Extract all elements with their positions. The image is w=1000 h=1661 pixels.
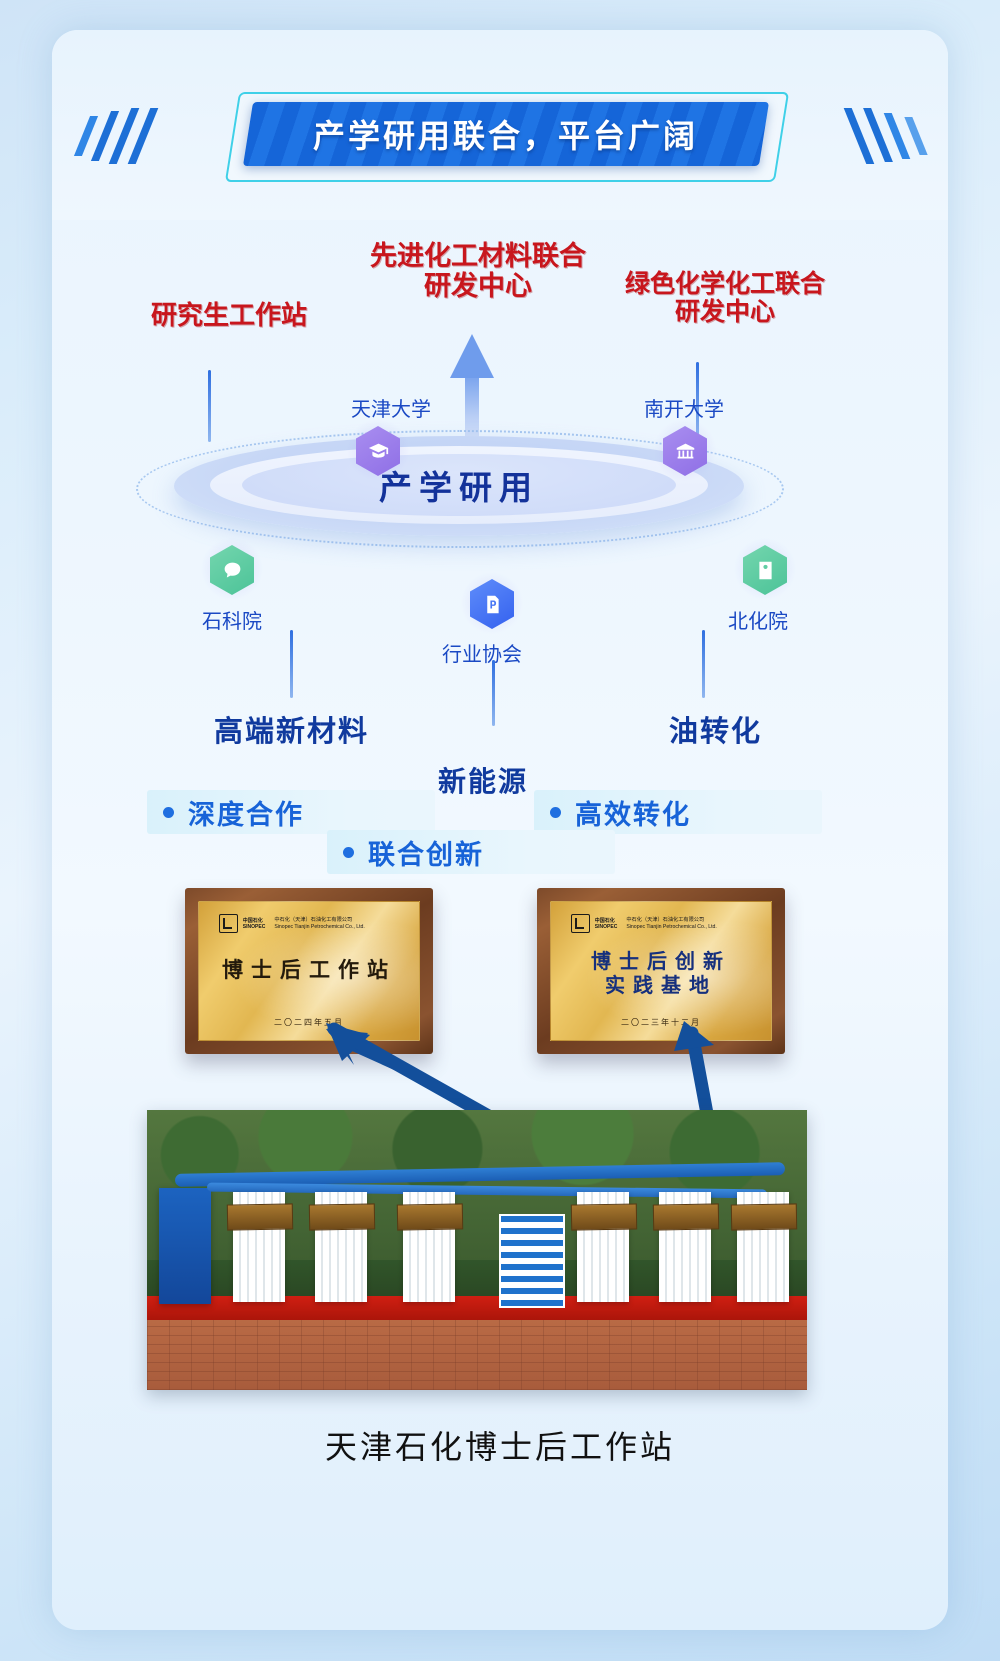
node-label-shikeyuan: 石科院 <box>202 605 262 634</box>
sinopec-logo: 中国石化 SINOPEC 中石化（天津）石油化工有限公司 Sinopec Tia… <box>571 914 717 933</box>
photo-column-plate <box>571 1203 637 1230</box>
sinopec-brand: 中国石化 SINOPEC <box>243 918 266 931</box>
plaque-company: 中石化（天津）石油化工有限公司 Sinopec Tianjin Petroche… <box>274 917 365 932</box>
left-slash-decoration <box>82 108 147 164</box>
brush-heading-new-energy: 新能源 <box>438 760 528 800</box>
photo-column-plate <box>397 1203 463 1230</box>
photo-column-plate <box>653 1203 719 1230</box>
banner-title: 产学研用联合，平台广阔 <box>313 111 698 157</box>
connector-new-energy <box>492 660 495 726</box>
photo-column <box>659 1192 711 1302</box>
graduation-cap-icon <box>368 441 389 462</box>
sinopec-brand-cn: 中国石化 <box>243 918 263 924</box>
arrow-head <box>450 334 494 378</box>
plaque-title: 博士后工作站 <box>199 957 419 983</box>
plaque-title: 博士后创新 实践基地 <box>551 949 771 998</box>
right-slash-decoration <box>855 108 920 164</box>
chip-joint-innovation[interactable]: 联合创新 <box>327 830 615 874</box>
photo-column <box>737 1192 789 1302</box>
chip-label: 高效转化 <box>575 793 691 832</box>
site-photo <box>147 1110 807 1390</box>
photo-column <box>315 1192 367 1302</box>
node-label-beihuayuan: 北化院 <box>728 605 788 634</box>
arrow-to-right-plaque <box>652 1015 772 1125</box>
connector-graduate-station <box>208 370 211 442</box>
chip-label: 联合创新 <box>368 833 484 872</box>
chip-deep-cooperation[interactable]: 深度合作 <box>147 790 435 834</box>
plaque-company-en: Sinopec Tianjin Petrochemical Co., Ltd. <box>274 924 365 930</box>
photo-column-plate <box>731 1203 797 1230</box>
plaque-company: 中石化（天津）石油化工有限公司 Sinopec Tianjin Petroche… <box>626 917 717 932</box>
photo-center-panel <box>499 1214 565 1308</box>
sinopec-brand-en: SINOPEC <box>595 924 618 930</box>
red-heading-advanced-materials-center: 先进化工材料联合 研发中心 <box>348 242 608 302</box>
id-card-icon <box>755 560 776 581</box>
plaque-company-en: Sinopec Tianjin Petrochemical Co., Ltd. <box>626 924 717 930</box>
chip-label: 深度合作 <box>188 793 304 832</box>
sinopec-logo: 中国石化 SINOPEC 中石化（天津）石油化工有限公司 Sinopec Tia… <box>219 914 365 933</box>
photo-blue-board <box>159 1188 211 1304</box>
photo-brick-ground <box>147 1320 807 1390</box>
photo-caption: 天津石化博士后工作站 <box>52 1422 948 1468</box>
sinopec-brand-en: SINOPEC <box>243 924 266 930</box>
poster-canvas: 产学研用联合，平台广阔 研究生工作站 先进化工材料联合 研发中心 绿色化学化工联… <box>52 30 948 1630</box>
chip-efficient-conversion[interactable]: 高效转化 <box>534 790 822 834</box>
core-label: 产学研用 <box>242 454 676 516</box>
university-building-icon <box>675 441 696 462</box>
brush-heading-oil-conversion: 油转化 <box>669 708 762 750</box>
document-p-icon <box>482 594 503 615</box>
red-heading-graduate-station: 研究生工作站 <box>114 302 344 331</box>
bullet-dot-icon <box>163 807 174 818</box>
plaque-company-cn: 中石化（天津）石油化工有限公司 <box>274 917 352 923</box>
node-label-tianjin-university: 天津大学 <box>351 393 431 422</box>
banner-plate: 产学研用联合，平台广阔 <box>243 102 769 166</box>
sinopec-mark-icon <box>219 914 238 933</box>
sinopec-mark-icon <box>571 914 590 933</box>
node-label-industry-association: 行业协会 <box>442 638 522 667</box>
sinopec-brand-cn: 中国石化 <box>595 918 615 924</box>
photo-column-plate <box>227 1203 293 1230</box>
bullet-dot-icon <box>343 847 354 858</box>
photo-column <box>577 1192 629 1302</box>
title-banner: 产学研用联合，平台广阔 <box>52 90 948 180</box>
photo-column-plate <box>309 1203 375 1230</box>
bullet-dot-icon <box>550 807 561 818</box>
plaque-company-cn: 中石化（天津）石油化工有限公司 <box>626 917 704 923</box>
red-heading-green-chemistry-center: 绿色化学化工联合 研发中心 <box>600 270 850 326</box>
sinopec-brand: 中国石化 SINOPEC <box>595 918 618 931</box>
arrow-to-left-plaque <box>282 1015 502 1125</box>
photo-column <box>233 1192 285 1302</box>
node-label-nankai-university: 南开大学 <box>644 393 724 422</box>
connector-oil-conversion <box>702 630 705 698</box>
chat-bubble-icon <box>222 560 243 581</box>
brush-heading-high-end-materials: 高端新材料 <box>214 708 369 750</box>
photo-column <box>403 1192 455 1302</box>
connector-high-end-materials <box>290 630 293 698</box>
